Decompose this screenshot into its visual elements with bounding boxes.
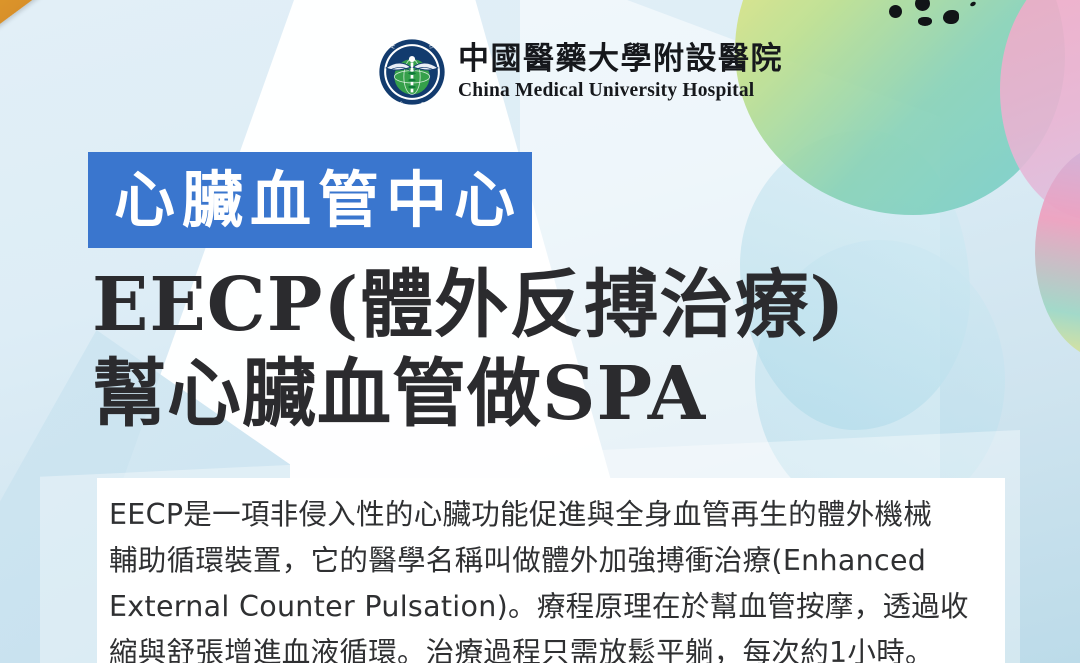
body-text-line: EECP是一項非侵入性的心臟功能促進與全身血管再生的體外機械 (109, 492, 993, 538)
decorative-dot (969, 1, 976, 7)
decorative-dot (915, 0, 930, 11)
body-text-panel: EECP是一項非侵入性的心臟功能促進與全身血管再生的體外機械 輔助循環裝置，它的… (97, 478, 1005, 663)
department-badge: 心臟血管中心 (88, 152, 532, 248)
hospital-logo-lockup: CHINA MEDICAL UNIV SINCE 1980 中國醫藥大學附設醫院… (378, 38, 783, 106)
body-text-line: 輔助循環裝置，它的醫學名稱叫做體外加強搏衝治療(Enhanced (109, 538, 993, 584)
decorative-dot (889, 5, 902, 18)
poster-canvas: 最新消息 CHINA MEDICAL UNIV SINCE (0, 0, 1080, 663)
department-badge-label: 心臟血管中心 (114, 170, 522, 231)
pink-blob-top-right (1000, 0, 1080, 220)
headline-line-1: EECP(體外反搏治療) (92, 268, 992, 343)
latest-news-ribbon: 最新消息 (0, 0, 253, 51)
body-text-line: 縮與舒張增進血液循環。治療過程只需放鬆平躺，每次約1小時。 (109, 630, 993, 663)
hospital-name-block: 中國醫藥大學附設醫院 China Medical University Hosp… (458, 44, 783, 101)
hospital-name-zh: 中國醫藥大學附設醫院 (458, 44, 783, 75)
decorative-dot (918, 17, 932, 26)
pink-blob-right-edge (1035, 145, 1080, 360)
headline-line-2: 幫心臟血管做SPA (92, 357, 992, 432)
ribbon-band (0, 0, 253, 51)
body-text-line: External Counter Pulsation)。療程原理在於幫血管按摩，… (109, 584, 993, 630)
headline-block: EECP(體外反搏治療) 幫心臟血管做SPA (92, 268, 992, 433)
ribbon-label: 最新消息 (0, 0, 204, 51)
decorative-dot (943, 10, 959, 24)
hospital-name-en: China Medical University Hospital (458, 81, 783, 101)
hospital-emblem-icon: CHINA MEDICAL UNIV SINCE 1980 (378, 38, 446, 106)
green-gradient-blob (735, 0, 1065, 215)
